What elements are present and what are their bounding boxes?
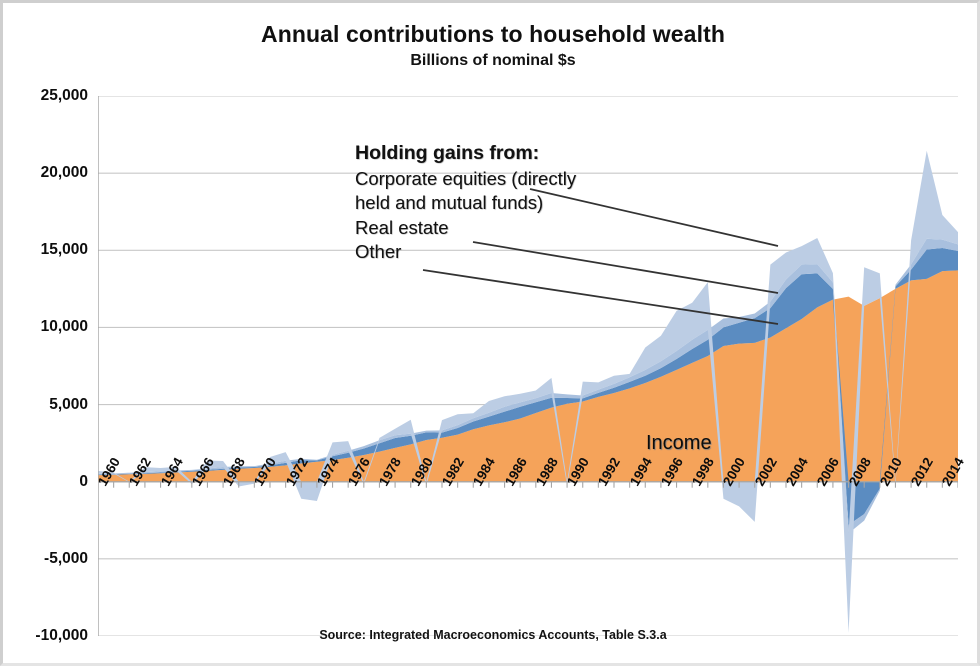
y-axis-tick-label: 0 xyxy=(79,473,88,491)
annotation-header: Holding gains from: xyxy=(355,141,685,167)
annotation-corporate-equities-line1: Corporate equities (directly xyxy=(355,167,685,191)
annotation-block: Holding gains from: Corporate equities (… xyxy=(355,141,685,264)
y-axis-tick-label: 10,000 xyxy=(41,318,88,336)
chart-subtitle: Billions of nominal $s xyxy=(3,52,980,70)
chart-container: Annual contributions to household wealth… xyxy=(0,0,980,666)
source-note: Source: Integrated Macroeconomics Accoun… xyxy=(3,628,980,642)
title-block: Annual contributions to household wealth… xyxy=(3,21,980,70)
y-axis-tick-label: 20,000 xyxy=(41,164,88,182)
y-axis-tick-label: 15,000 xyxy=(41,241,88,259)
area-series xyxy=(98,270,958,481)
annotation-other: Other xyxy=(355,240,685,264)
leader-other xyxy=(423,270,778,324)
annotation-corporate-equities-line2: held and mutual funds) xyxy=(355,191,685,215)
y-axis-tick-label: -5,000 xyxy=(44,550,88,568)
x-axis-labels: 1960196219641966196819701972197419761978… xyxy=(98,481,978,541)
annotation-real-estate: Real estate xyxy=(355,216,685,240)
page-title: Annual contributions to household wealth xyxy=(3,21,980,47)
y-axis-labels: 25,00020,00015,00010,0005,0000-5,000-10,… xyxy=(3,3,88,666)
series-label-income: Income xyxy=(646,432,712,455)
y-axis-tick-label: 5,000 xyxy=(49,396,88,414)
y-axis-tick-label: 25,000 xyxy=(41,87,88,105)
